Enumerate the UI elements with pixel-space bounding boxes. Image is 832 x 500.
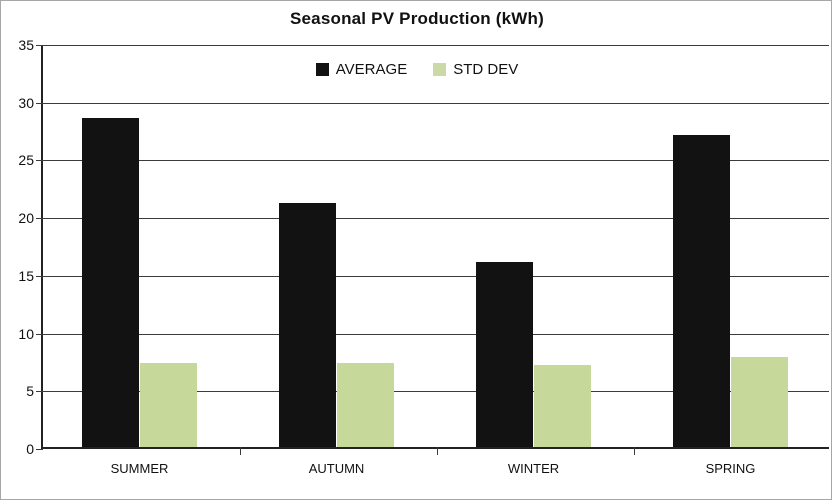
category-separator [437,447,438,455]
chart-title: Seasonal PV Production (kWh) [1,9,832,29]
gridline [43,103,829,104]
bar-winter-std-dev [534,365,591,447]
x-axis-label-autumn: AUTUMN [309,461,365,476]
y-axis-tick [36,103,43,104]
category-separator [240,447,241,455]
bar-summer-std-dev [140,363,197,447]
bar-winter-average [476,262,533,447]
plot-area: 05101520253035 [41,45,829,449]
y-axis-tick-label: 15 [18,268,34,284]
y-axis-tick [36,276,43,277]
bar-spring-average [673,135,730,447]
y-axis-tick-label: 0 [26,441,34,457]
y-axis-tick [36,160,43,161]
bar-autumn-std-dev [337,363,394,447]
y-axis-tick [36,45,43,46]
bar-summer-average [82,118,139,447]
y-axis-tick [36,218,43,219]
bar-spring-std-dev [731,357,788,447]
gridline [43,45,829,46]
bar-autumn-average [279,203,336,447]
y-axis-tick [36,334,43,335]
y-axis-tick-label: 35 [18,37,34,53]
y-axis-tick-label: 25 [18,152,34,168]
y-axis-tick [36,391,43,392]
x-axis-label-spring: SPRING [706,461,756,476]
category-separator [634,447,635,455]
y-axis-tick-label: 30 [18,95,34,111]
chart-container: Seasonal PV Production (kWh) AVERAGE STD… [0,0,832,500]
y-axis-tick-label: 5 [26,383,34,399]
y-axis-tick-label: 20 [18,210,34,226]
x-axis-label-summer: SUMMER [111,461,169,476]
y-axis-tick-label: 10 [18,326,34,342]
y-axis-tick [36,449,43,450]
x-axis-label-winter: WINTER [508,461,559,476]
